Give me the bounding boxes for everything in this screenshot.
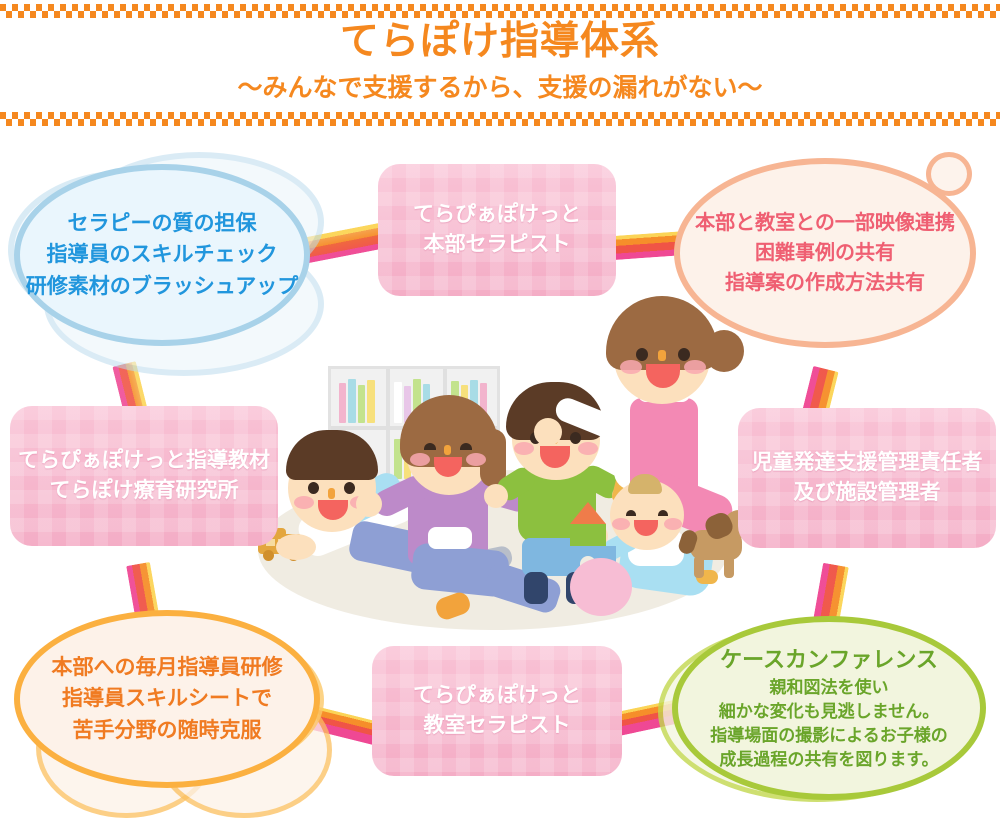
node-body: ケースカンファレンス 親和図法を使い 細かな変化も見逃しません。 指導場面の撮影… <box>672 616 986 800</box>
node-line: 指導員スキルシートで <box>52 683 283 715</box>
node-line: 教室セラピスト <box>413 711 581 741</box>
node-body: 本部への毎月指導員研修 指導員スキルシートで 苦手分野の随時克服 <box>14 610 320 788</box>
node-line: 指導員のスキルチェック <box>26 239 299 271</box>
node-line: 苦手分野の随時克服 <box>52 715 283 747</box>
node-teaching-materials[interactable]: てらぴぁぽけっと指導教材 てらぽけ療育研究所 <box>10 406 278 546</box>
node-line: 及び施設管理者 <box>752 478 983 508</box>
node-quality-assurance[interactable]: セラピーの質の担保 指導員のスキルチェック 研修素材のブラッシュアップ <box>8 148 338 378</box>
node-monthly-training[interactable]: 本部への毎月指導員研修 指導員スキルシートで 苦手分野の随時克服 <box>6 604 336 822</box>
node-line: 細かな変化も見逃しません。 <box>710 700 948 724</box>
node-line: 本部への毎月指導員研修 <box>52 652 283 684</box>
pink-ball-icon <box>570 558 632 616</box>
node-line: てらぽけ療育研究所 <box>18 476 270 506</box>
node-line: 親和図法を使い <box>710 676 948 700</box>
node-hq-classroom-link[interactable]: 本部と教室との一部映像連携 困難事例の共有 指導案の作成方法共有 <box>668 148 994 360</box>
node-line: てらぴぁぽけっと指導教材 <box>18 446 270 476</box>
node-body: 本部と教室との一部映像連携 困難事例の共有 指導案の作成方法共有 <box>674 158 976 348</box>
node-heading: ケースカンファレンス <box>710 644 948 675</box>
node-line: セラピーの質の担保 <box>26 208 299 240</box>
node-child-dev-manager[interactable]: 児童発達支援管理責任者 及び施設管理者 <box>738 408 996 548</box>
node-case-conference[interactable]: ケースカンファレンス 親和図法を使い 細かな変化も見逃しません。 指導場面の撮影… <box>654 614 994 810</box>
node-line: 本部セラピスト <box>413 230 581 260</box>
node-line: 困難事例の共有 <box>695 238 955 268</box>
node-body: セラピーの質の担保 指導員のスキルチェック 研修素材のブラッシュアップ <box>14 164 310 346</box>
node-line: 成長過程の共有を図ります。 <box>710 748 948 772</box>
node-line: てらぴぁぽけっと <box>413 681 581 711</box>
node-line: 児童発達支援管理責任者 <box>752 448 983 478</box>
node-line: 研修素材のブラッシュアップ <box>26 271 299 303</box>
infographic-canvas: てらぽけ指導体系 〜みんなで支援するから、支援の漏れがない〜 <box>0 0 1000 830</box>
node-line: 指導案の作成方法共有 <box>695 268 955 298</box>
node-line: てらぴぁぽけっと <box>413 200 581 230</box>
node-hq-therapist[interactable]: てらぴぁぽけっと 本部セラピスト <box>378 164 616 296</box>
node-line: 本部と教室との一部映像連携 <box>695 208 955 238</box>
node-classroom-therapist[interactable]: てらぴぁぽけっと 教室セラピスト <box>372 646 622 776</box>
node-line: 指導場面の撮影によるお子様の <box>710 724 948 748</box>
